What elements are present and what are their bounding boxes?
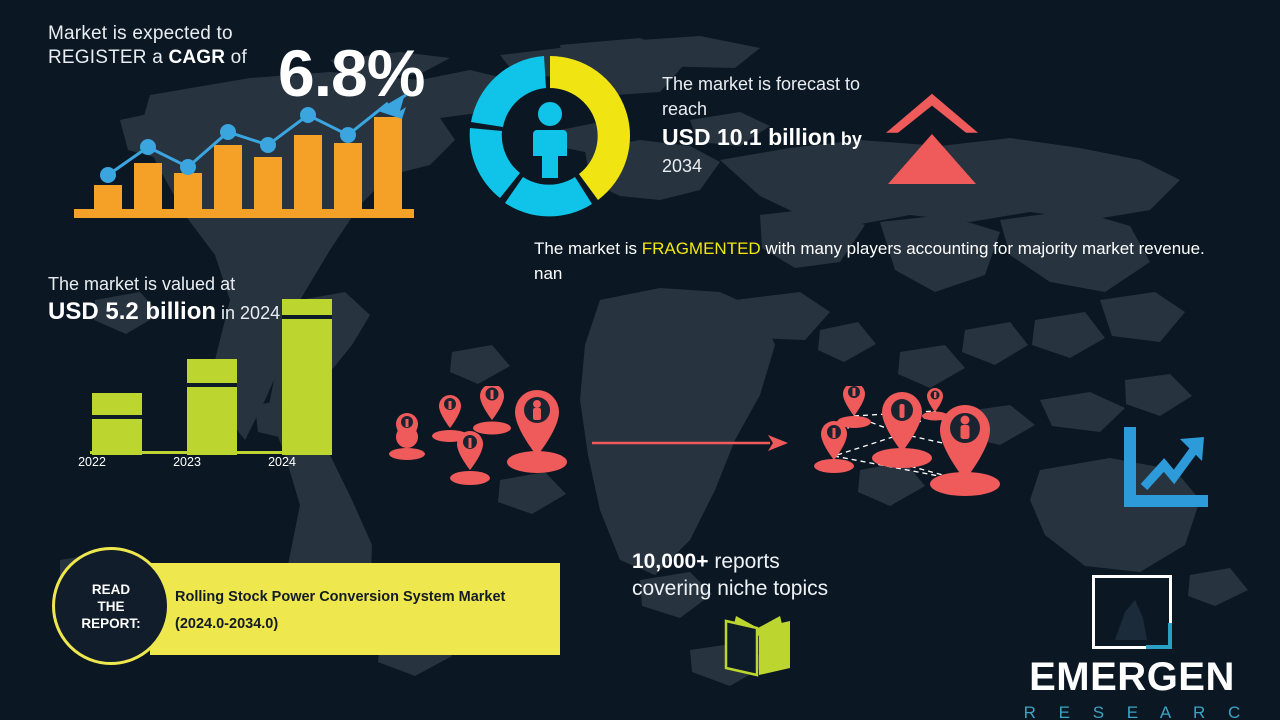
badge-line-2: THE	[97, 599, 124, 614]
bar-separator	[282, 315, 332, 319]
frag-pre: The market is	[534, 239, 642, 258]
forecast-by: by	[836, 129, 862, 149]
forecast-text-block: The market is forecast to reach USD 10.1…	[662, 72, 902, 178]
cagr-keyword: CAGR	[168, 47, 225, 68]
bar-label-2024: 2024	[252, 455, 312, 469]
location-pin-cluster-icon	[382, 386, 582, 496]
bar-separator	[92, 415, 142, 419]
valued-line-1: The market is valued at	[48, 272, 378, 296]
green-chart-axis	[90, 451, 330, 454]
badge-line-1: READ	[92, 582, 130, 597]
forecast-year: 2034	[662, 154, 902, 178]
reports-line-2: covering niche topics	[632, 575, 892, 602]
donut-slice-cyan-2	[470, 128, 520, 198]
right-arrow-icon	[592, 432, 792, 454]
bar-2022	[92, 393, 142, 455]
bar-2024	[282, 299, 332, 455]
double-up-arrow-icon	[884, 92, 980, 188]
reports-line-1: 10,000+ reports	[632, 548, 892, 575]
up-triangle-solid	[888, 134, 976, 184]
connected-location-pin-network-icon	[802, 386, 1022, 504]
donut-slice-yellow	[550, 56, 630, 200]
growth-trend-bar-chart	[66, 85, 416, 225]
market-value-bar-chart	[90, 295, 340, 455]
logo-subtitle: R E S E A R C H	[1012, 703, 1252, 720]
growth-chart-icon	[1120, 425, 1212, 513]
report-title: Rolling Stock Power Conversion System Ma…	[175, 589, 505, 605]
fragmentation-text: The market is FRAGMENTED with many playe…	[534, 236, 1214, 286]
bar-label-2023: 2023	[157, 455, 217, 469]
forecast-value-row: USD 10.1 billion by	[662, 122, 902, 154]
read-report-badge[interactable]: READTHEREPORT:	[52, 547, 170, 665]
report-period: (2024.0-2034.0)	[175, 616, 278, 632]
infographic-canvas: Market is expected to REGISTER a CAGR of…	[0, 0, 1280, 720]
reports-count: 10,000+	[632, 550, 709, 573]
logo-accent-corner	[1146, 623, 1172, 649]
forecast-line-2: reach	[662, 97, 902, 122]
growth-bars	[94, 117, 402, 209]
open-book-icon	[718, 612, 798, 678]
emergen-research-logo[interactable]: EMERGEN R E S E A R C H	[1012, 575, 1252, 720]
read-report-label: READTHEREPORT:	[81, 581, 140, 632]
cagr-line2-post: of	[225, 47, 247, 68]
forecast-line-1: The market is forecast to	[662, 72, 902, 97]
reports-line1-rest: reports	[709, 550, 780, 573]
market-share-donut	[462, 52, 638, 220]
forecast-value: USD 10.1 billion	[662, 124, 836, 150]
bar-2023	[187, 359, 237, 455]
donut-slice-cyan-3	[505, 177, 592, 216]
cagr-line2-pre: REGISTER a	[48, 47, 168, 68]
bar-separator	[187, 383, 237, 387]
donut-slice-cyan-1	[471, 56, 546, 127]
logo-square-icon	[1092, 575, 1172, 649]
person-icon	[533, 102, 567, 178]
up-chevron-hollow	[886, 94, 978, 133]
logo-name: EMERGEN	[1012, 655, 1252, 700]
badge-line-3: REPORT:	[81, 616, 140, 631]
reports-count-text: 10,000+ reports covering niche topics	[632, 548, 892, 602]
bar-label-2022: 2022	[62, 455, 122, 469]
read-report-banner[interactable]: Rolling Stock Power Conversion System Ma…	[150, 563, 560, 655]
frag-highlight: FRAGMENTED	[642, 239, 761, 258]
chart-baseline	[74, 209, 414, 218]
cagr-text-block: Market is expected to REGISTER a CAGR of…	[48, 22, 468, 70]
